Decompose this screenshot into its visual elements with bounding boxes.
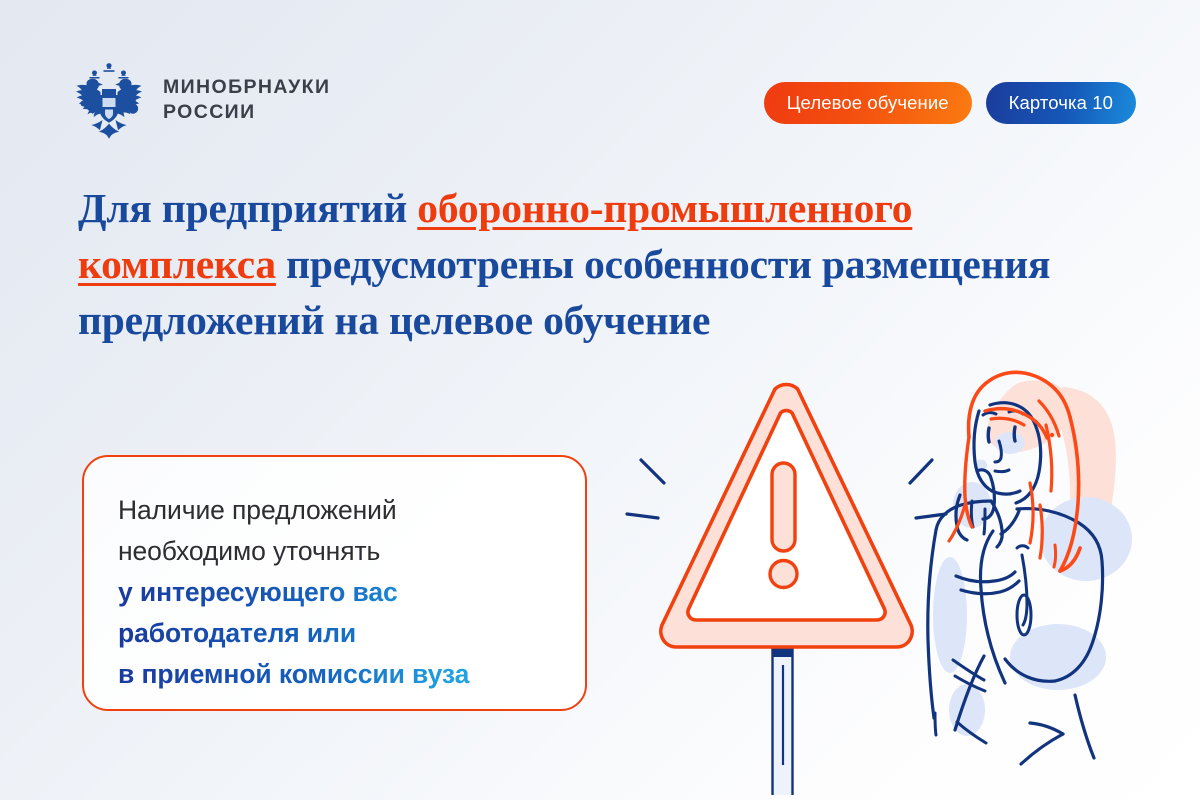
ministry-logo: МИНОБРНАУКИ РОССИИ xyxy=(72,60,330,140)
badge-topic[interactable]: Целевое обучение xyxy=(764,82,972,124)
warning-triangle-sign-icon xyxy=(627,385,946,796)
headline-part-1: Для предприятий xyxy=(78,185,417,231)
info-card-line: Наличие предложений xyxy=(118,490,549,531)
page-title: Для предприятий оборонно-промышленного к… xyxy=(78,180,1088,348)
badge-group: Целевое обучение Карточка 10 xyxy=(764,82,1136,124)
info-card-line-highlight: работодателя или xyxy=(118,613,549,654)
info-card: Наличие предложений необходимо уточнять … xyxy=(82,455,587,711)
badge-card-number[interactable]: Карточка 10 xyxy=(986,82,1136,124)
ministry-logo-line-2: РОССИИ xyxy=(163,100,330,125)
ministry-logo-line-1: МИНОБРНАУКИ xyxy=(163,76,330,98)
ministry-logo-text: МИНОБРНАУКИ РОССИИ xyxy=(163,75,330,125)
info-card-line-highlight: в приемной комиссии вуза xyxy=(118,654,549,695)
thinking-woman-icon xyxy=(928,372,1132,764)
info-card-line-highlight: у интересующего вас xyxy=(118,572,549,613)
russian-coat-of-arms-icon xyxy=(72,60,146,140)
info-card-line: необходимо уточнять xyxy=(118,531,549,572)
page-header: МИНОБРНАУКИ РОССИИ Целевое обучение Карт… xyxy=(0,0,1200,160)
illustration xyxy=(620,365,1200,800)
